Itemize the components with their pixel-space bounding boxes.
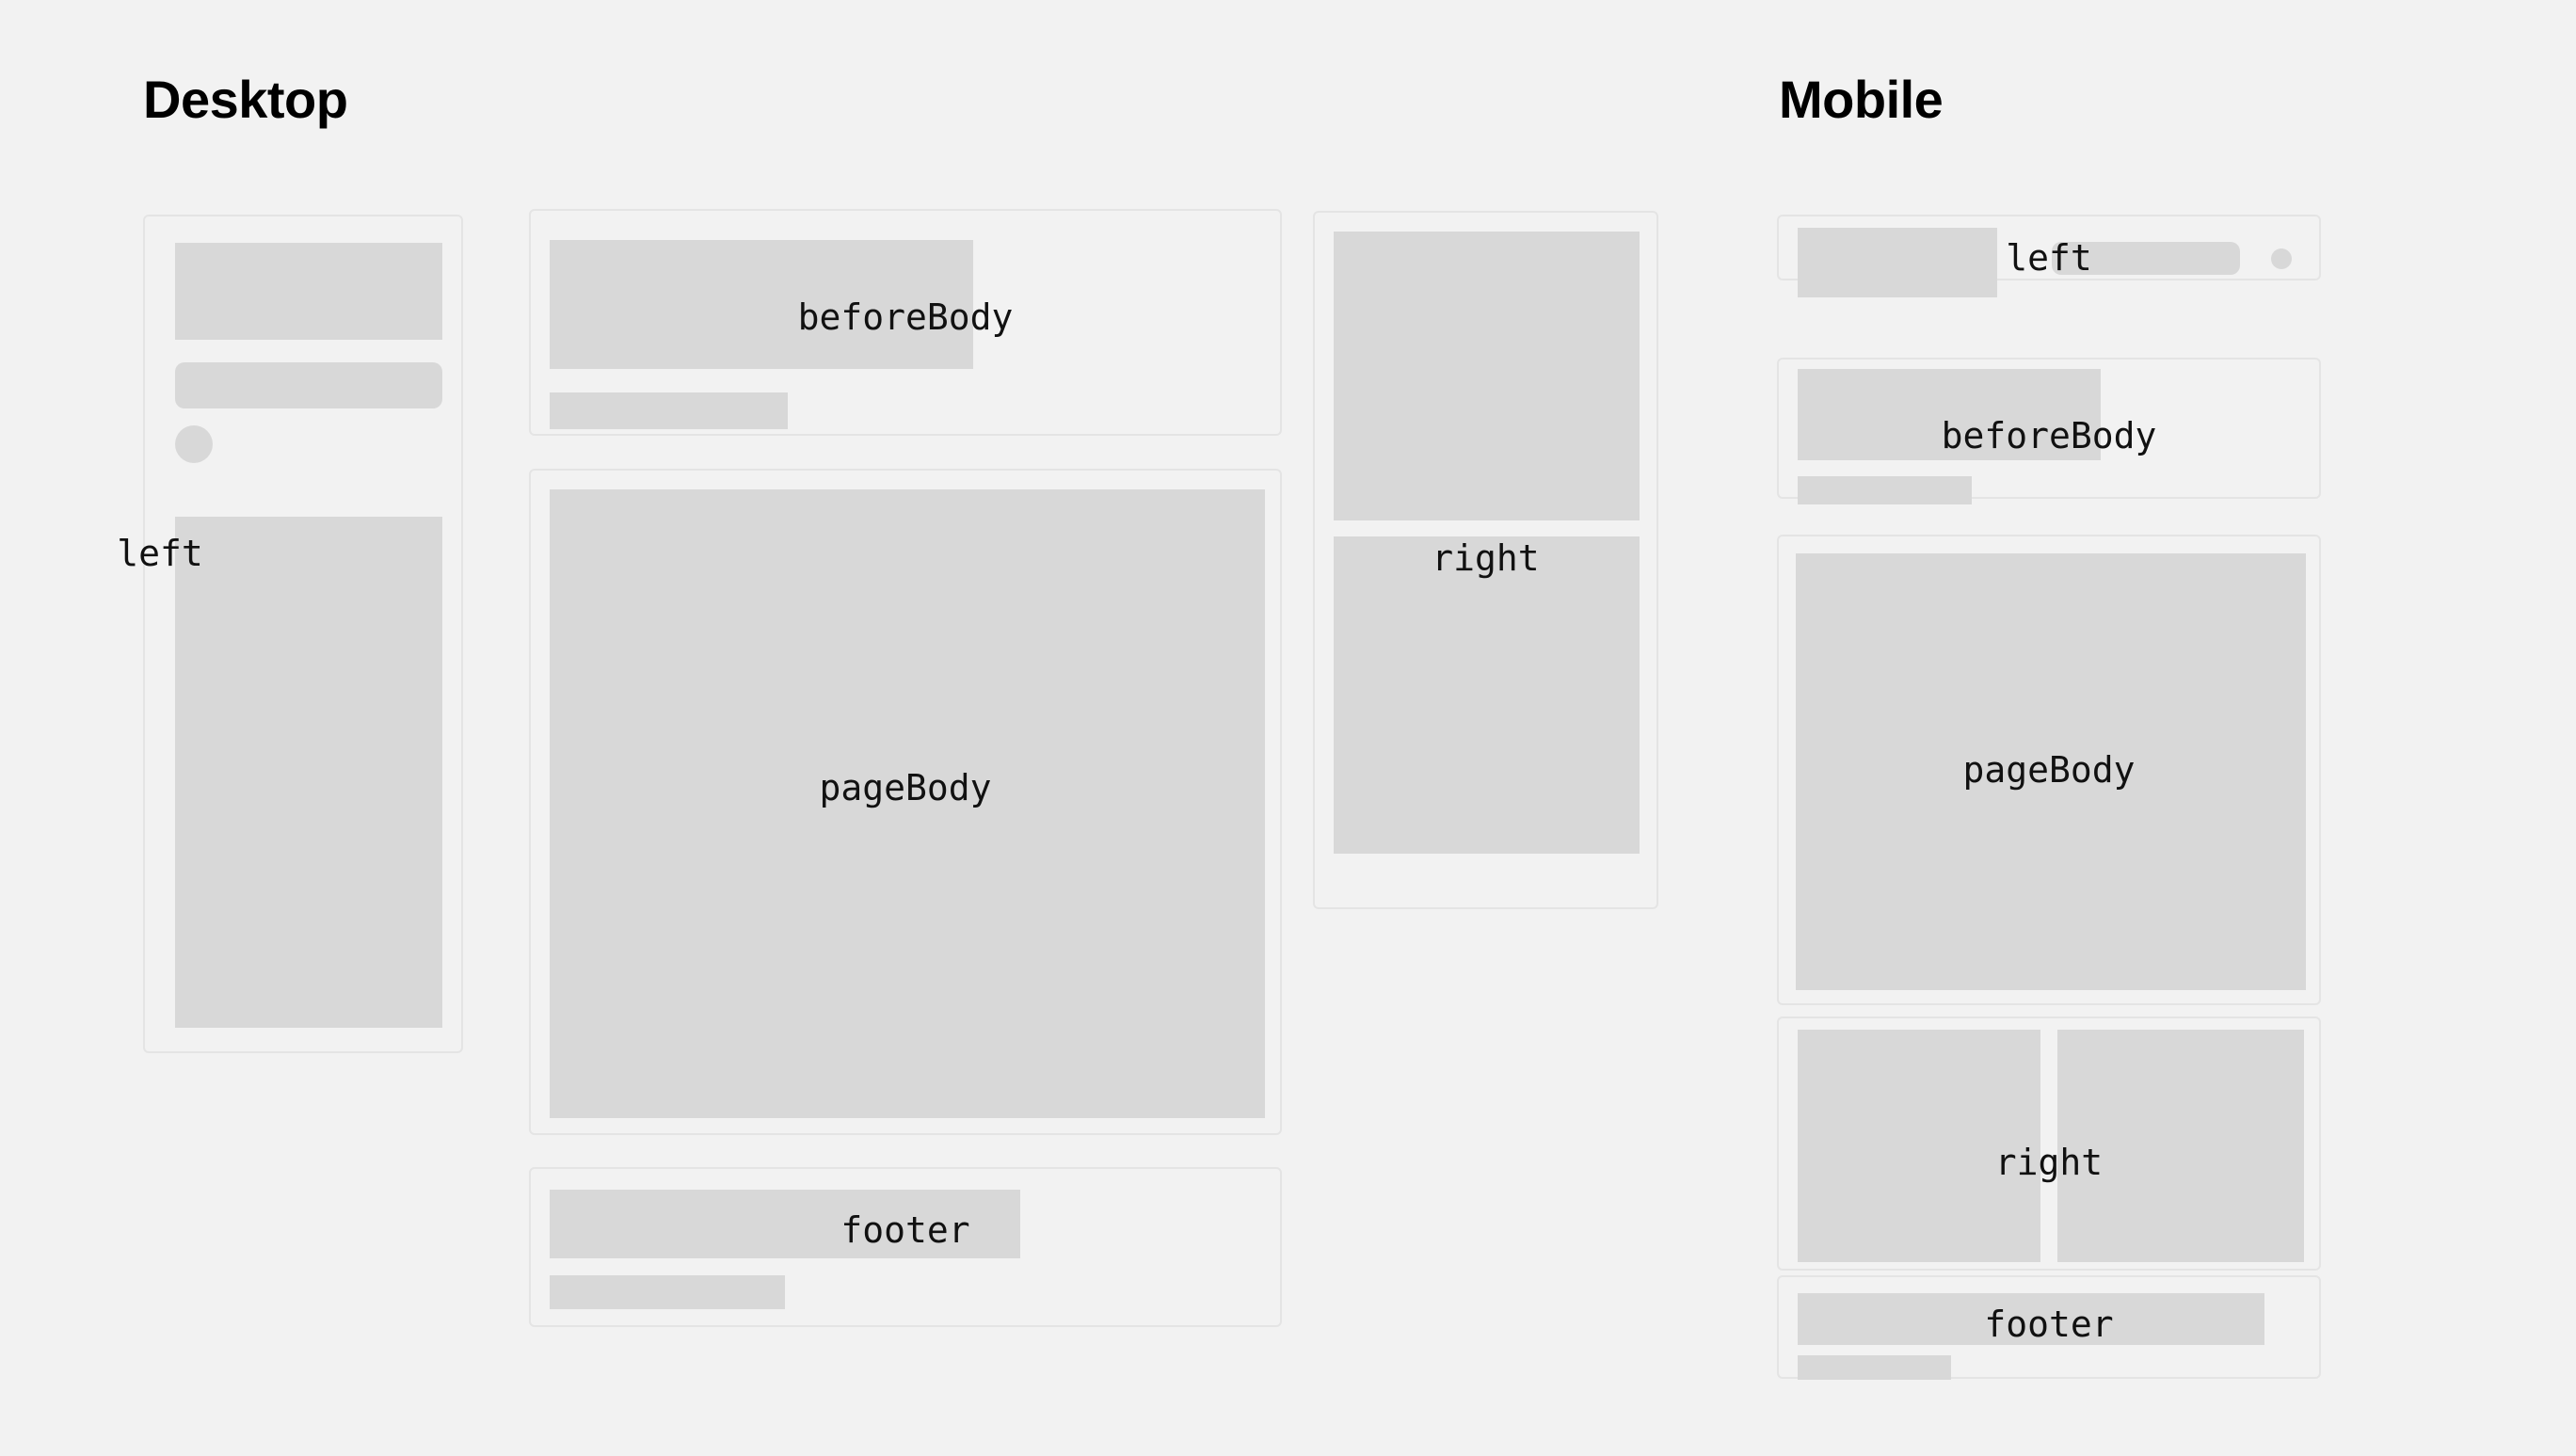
mobile-footer-block-primary: [1798, 1293, 2264, 1345]
mobile-left-avatar-dot-icon: [2271, 248, 2292, 269]
desktop-heading: Desktop: [143, 73, 347, 126]
mobile-right-block-right: [2057, 1030, 2304, 1262]
mobile-heading: Mobile: [1779, 73, 1943, 126]
mobile-beforebody-block-secondary: [1798, 476, 1972, 504]
desktop-beforebody-panel[interactable]: [529, 209, 1282, 436]
mobile-pagebody-block: [1796, 553, 2306, 990]
mobile-left-pill-bar: [2052, 242, 2240, 275]
mobile-left-block: [1798, 228, 1997, 297]
desktop-right-block-top: [1334, 232, 1640, 520]
mobile-right-block-left: [1798, 1030, 2040, 1262]
desktop-left-panel[interactable]: [143, 215, 463, 1053]
desktop-right-block-bottom: [1334, 536, 1640, 854]
desktop-pagebody-block: [550, 489, 1265, 1118]
mobile-footer-panel[interactable]: [1777, 1275, 2321, 1379]
desktop-beforebody-block-secondary: [550, 392, 788, 429]
desktop-footer-block-secondary: [550, 1275, 785, 1309]
mobile-beforebody-block-primary: [1798, 369, 2101, 460]
desktop-right-panel[interactable]: [1313, 211, 1658, 909]
mobile-right-panel[interactable]: [1777, 1016, 2321, 1271]
desktop-footer-block-primary: [550, 1190, 1020, 1258]
mobile-left-panel[interactable]: [1777, 215, 2321, 280]
desktop-pagebody-panel[interactable]: [529, 469, 1282, 1135]
desktop-beforebody-block-primary: [550, 240, 973, 369]
mobile-footer-block-secondary: [1798, 1355, 1951, 1380]
mobile-beforebody-panel[interactable]: [1777, 358, 2321, 499]
desktop-left-block-bar: [175, 362, 442, 408]
desktop-left-avatar-dot-icon: [175, 425, 213, 463]
desktop-left-block-tall: [175, 517, 442, 1028]
desktop-footer-panel[interactable]: [529, 1167, 1282, 1327]
desktop-left-block-large: [175, 243, 442, 340]
mobile-pagebody-panel[interactable]: [1777, 535, 2321, 1005]
